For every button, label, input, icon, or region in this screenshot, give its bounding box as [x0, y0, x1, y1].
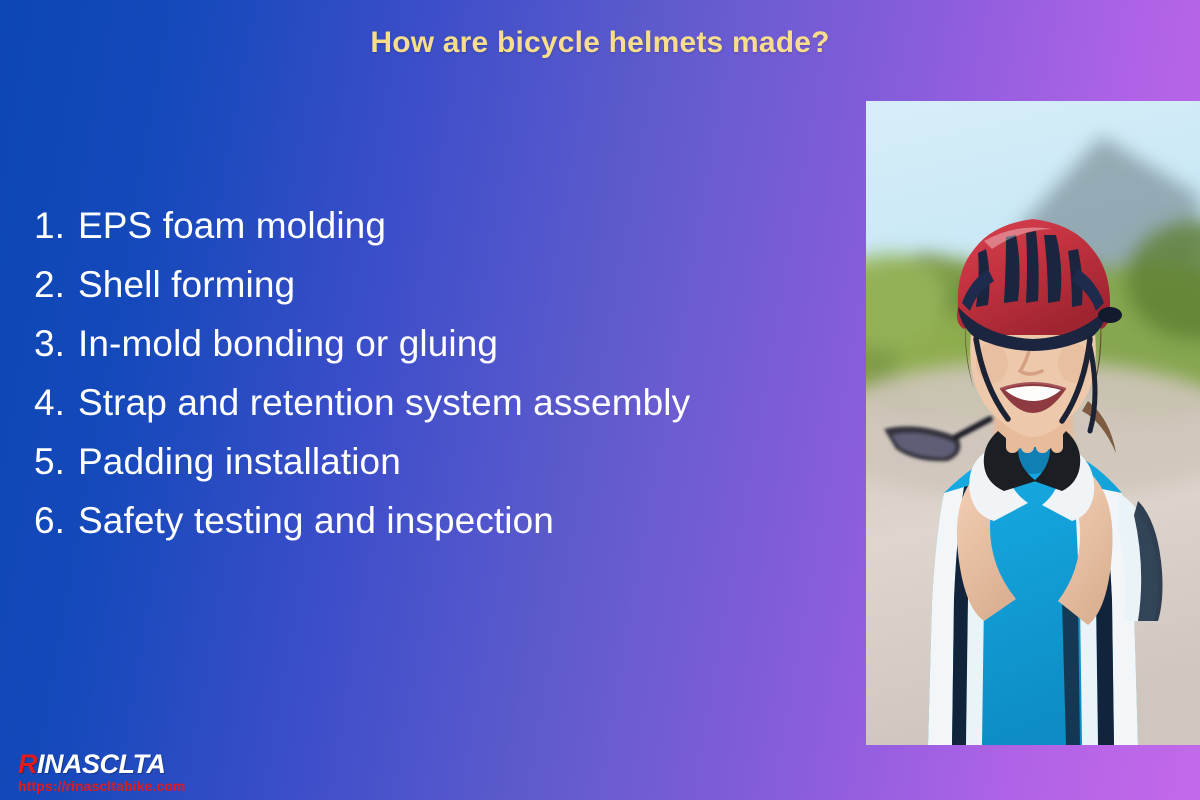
list-item-number: 5. [34, 432, 78, 491]
list-item-label: Shell forming [78, 255, 295, 314]
list-item: 4. Strap and retention system assembly [34, 373, 854, 432]
list-item-label: EPS foam molding [78, 196, 386, 255]
brand-url[interactable]: https://rinascltabike.com [18, 779, 248, 794]
list-item-label: Padding installation [78, 432, 401, 491]
list-item: 1. EPS foam molding [34, 196, 854, 255]
steps-list: 1. EPS foam molding 2. Shell forming 3. … [34, 196, 854, 550]
list-item-number: 1. [34, 196, 78, 255]
list-item: 5. Padding installation [34, 432, 854, 491]
cyclist-photo [866, 101, 1200, 745]
brand-rest: INASCLTA [37, 749, 165, 779]
page-title: How are bicycle helmets made? [0, 26, 1200, 60]
slide-canvas: How are bicycle helmets made? 1. EPS foa… [0, 0, 1200, 800]
list-item-number: 4. [34, 373, 78, 432]
list-item-label: Safety testing and inspection [78, 491, 554, 550]
list-item: 6. Safety testing and inspection [34, 491, 854, 550]
list-item-label: Strap and retention system assembly [78, 373, 690, 432]
brand-name: RINASCLTA [18, 751, 248, 778]
list-item-label: In-mold bonding or gluing [78, 314, 498, 373]
brand-logo[interactable]: RINASCLTA https://rinascltabike.com [18, 751, 248, 794]
list-item: 2. Shell forming [34, 255, 854, 314]
list-item: 3. In-mold bonding or gluing [34, 314, 854, 373]
brand-initial: R [18, 749, 37, 779]
list-item-number: 2. [34, 255, 78, 314]
list-item-number: 3. [34, 314, 78, 373]
list-item-number: 6. [34, 491, 78, 550]
